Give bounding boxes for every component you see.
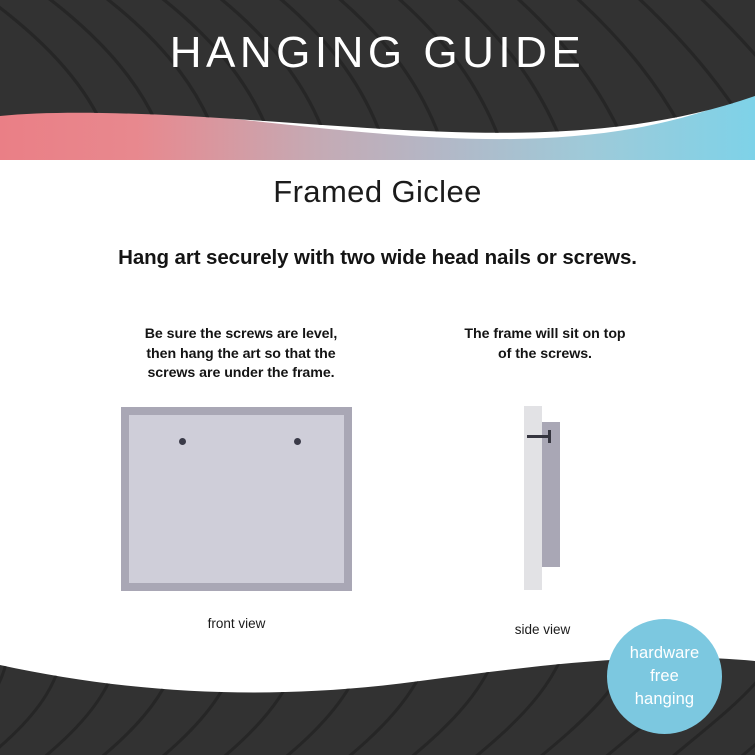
product-title: Framed Giclee <box>0 174 755 210</box>
badge-label: hardware free hanging <box>630 642 700 711</box>
hardware-free-hanging-badge: hardware free hanging <box>607 619 722 734</box>
side-view-column: The frame will sit on top of the screws. <box>420 325 670 364</box>
front-view-instruction-line-2: then hang the art so that the <box>96 345 386 365</box>
front-view-diagram <box>121 407 352 591</box>
header-banner: HANGING GUIDE <box>0 0 755 160</box>
side-view-instruction-line-1: The frame will sit on top <box>420 325 670 345</box>
front-view-mat <box>129 415 344 583</box>
header-background-graphic <box>0 0 755 160</box>
badge-label-line-3: hanging <box>630 688 700 711</box>
side-view-frame <box>542 422 560 567</box>
page-title: HANGING GUIDE <box>0 28 755 78</box>
front-view-instruction: Be sure the screws are level, then hang … <box>96 325 386 384</box>
front-view-instruction-line-1: Be sure the screws are level, <box>96 325 386 345</box>
side-view-wall <box>524 406 542 590</box>
front-view-column: Be sure the screws are level, then hang … <box>96 325 386 384</box>
hanging-guide-page: HANGING GUIDE Framed Giclee Hang art sec… <box>0 0 755 755</box>
screw-head-icon-left <box>179 438 186 445</box>
badge-label-line-1: hardware <box>630 642 700 665</box>
badge-label-line-2: free <box>630 665 700 688</box>
side-view-instruction-line-2: of the screws. <box>420 345 670 365</box>
front-view-instruction-line-3: screws are under the frame. <box>96 364 386 384</box>
side-view-instruction: The frame will sit on top of the screws. <box>420 325 670 364</box>
lead-instruction: Hang art securely with two wide head nai… <box>0 246 755 270</box>
screw-head-icon-right <box>294 438 301 445</box>
screw-head-icon-side <box>548 430 551 443</box>
